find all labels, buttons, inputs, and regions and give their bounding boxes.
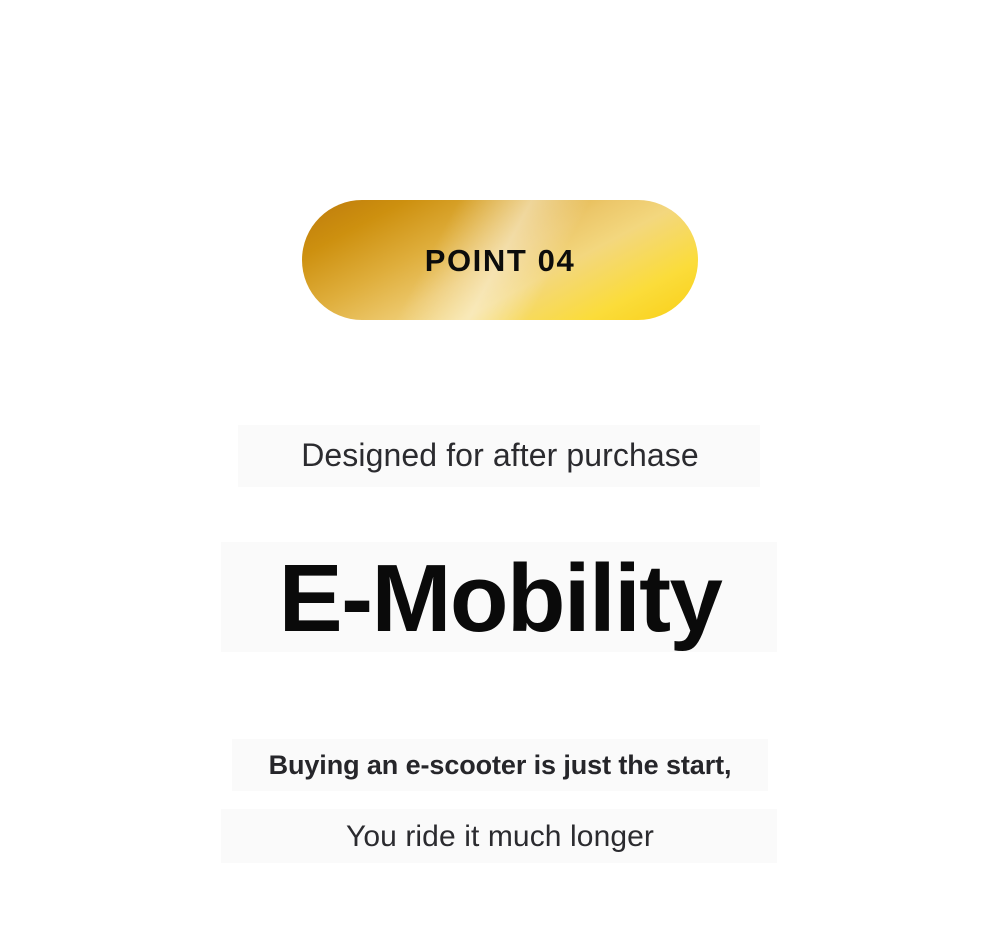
point-badge[interactable]: POINT 04 xyxy=(302,200,698,320)
badge-row: POINT 04 xyxy=(0,200,1000,320)
page-title: E-Mobility xyxy=(0,551,1000,647)
eyebrow-text: Designed for after purchase xyxy=(0,431,1000,479)
point-badge-label: POINT 04 xyxy=(425,245,576,276)
subtext-line2: You ride it much longer xyxy=(0,817,1000,857)
slide-canvas: POINT 04 Designed for after purchase E-M… xyxy=(0,0,1000,945)
subtext-line1: Buying an e-scooter is just the start, xyxy=(0,746,1000,784)
